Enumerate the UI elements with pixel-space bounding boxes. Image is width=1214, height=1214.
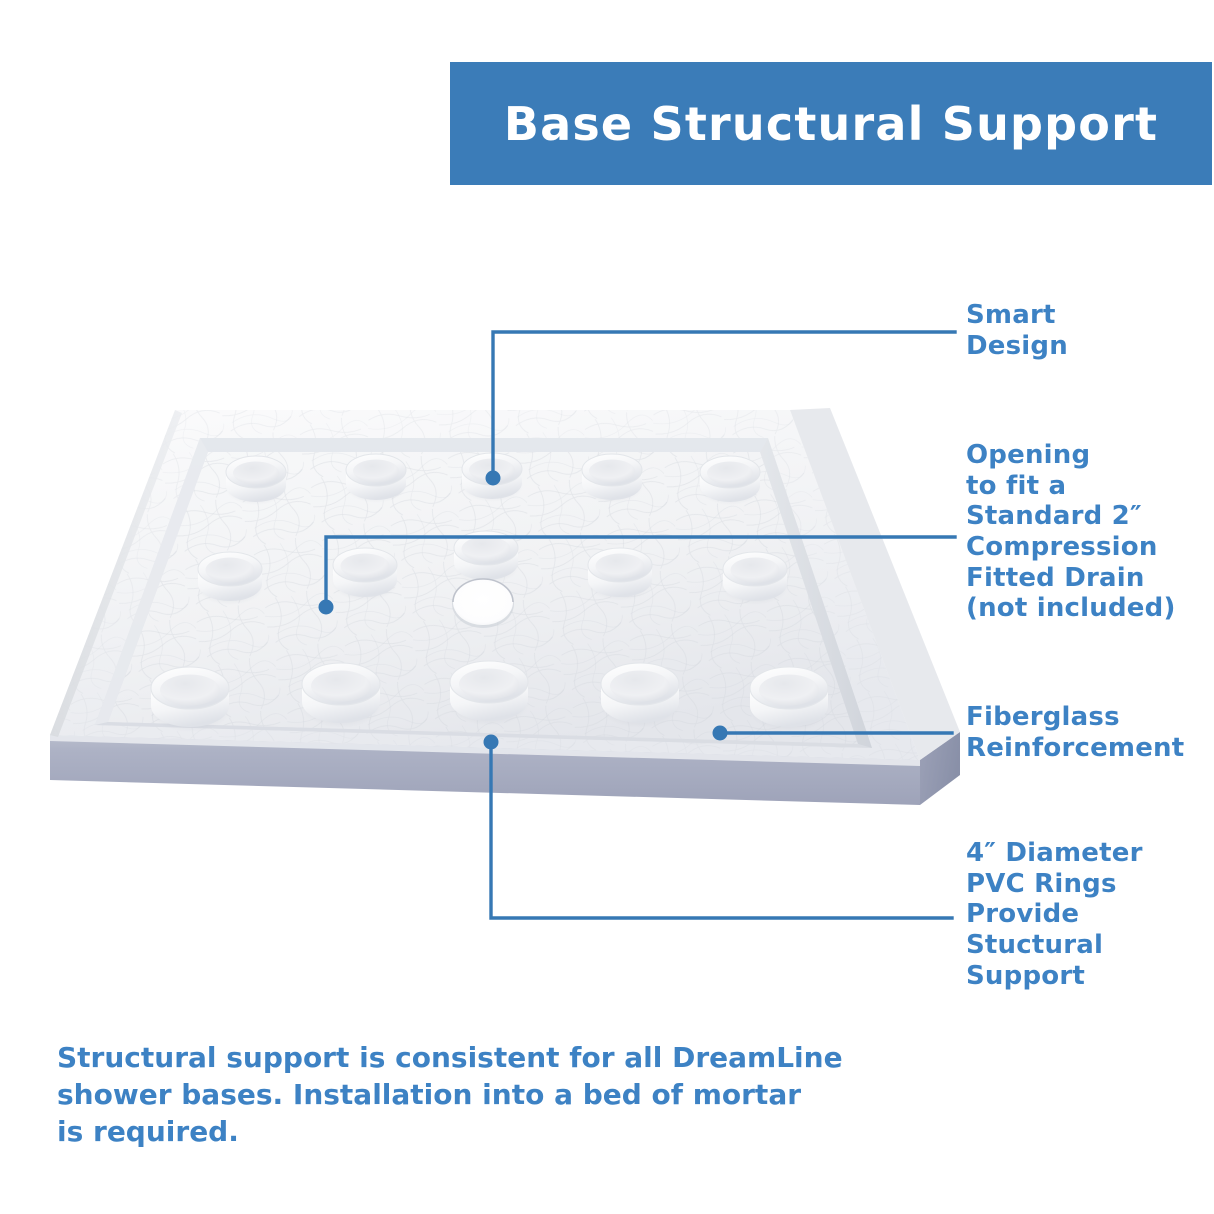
pvc-ring <box>453 531 519 584</box>
callout-line: Support <box>966 961 1143 992</box>
callout-line: Smart <box>966 300 1068 331</box>
caption-line: Structural support is consistent for all… <box>57 1040 817 1077</box>
infographic-canvas: Base Structural Support <box>0 0 1214 1214</box>
pvc-ring <box>225 456 287 505</box>
pvc-ring <box>722 552 788 605</box>
pvc-ring <box>449 661 529 726</box>
callout-line: Stuctural <box>966 930 1143 961</box>
callout-smart-design: Smart Design <box>966 300 1068 361</box>
callout-fiberglass-reinforcement: Fiberglass Reinforcement <box>966 702 1184 763</box>
pvc-ring <box>332 548 398 601</box>
callout-line: PVC Rings <box>966 869 1143 900</box>
callout-pvc-rings: 4″ Diameter PVC Rings Provide Stuctural … <box>966 838 1143 991</box>
pvc-ring <box>461 453 523 502</box>
callout-line: Fiberglass <box>966 702 1184 733</box>
pvc-ring <box>301 663 381 728</box>
callout-line: Design <box>966 331 1068 362</box>
page-title: Base Structural Support <box>504 97 1158 151</box>
shower-base-illustration <box>0 380 960 850</box>
callout-line: Fitted Drain <box>966 563 1176 594</box>
pvc-ring <box>600 663 680 728</box>
pvc-ring <box>587 548 653 601</box>
callout-line: 4″ Diameter <box>966 838 1143 869</box>
callout-line: Standard 2″ <box>966 501 1176 532</box>
pvc-ring <box>345 454 407 503</box>
callout-line: Reinforcement <box>966 733 1184 764</box>
callout-line: to fit a <box>966 471 1176 502</box>
callout-line: (not included) <box>966 593 1176 624</box>
pvc-ring <box>749 667 829 732</box>
callout-line: Provide <box>966 899 1143 930</box>
header-band: Base Structural Support <box>450 62 1212 185</box>
callout-line: Opening <box>966 440 1176 471</box>
caption-line: shower bases. Installation into a bed of… <box>57 1077 817 1114</box>
callout-line: Compression <box>966 532 1176 563</box>
pvc-ring <box>150 667 230 732</box>
callout-drain-opening: Opening to fit a Standard 2″ Compression… <box>966 440 1176 624</box>
pvc-ring <box>197 552 263 605</box>
pvc-ring <box>699 456 761 505</box>
drain-opening <box>452 579 514 628</box>
pvc-ring <box>581 454 643 503</box>
caption-line: is required. <box>57 1114 817 1151</box>
bottom-caption: Structural support is consistent for all… <box>57 1040 817 1151</box>
